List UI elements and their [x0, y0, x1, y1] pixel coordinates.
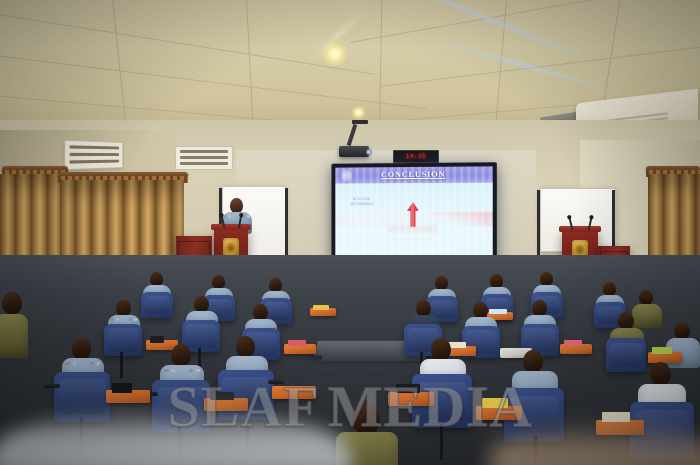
head [253, 304, 268, 320]
torso-khaki [0, 314, 28, 358]
notebook [489, 309, 507, 314]
presenter-epaulette-right [243, 215, 250, 218]
head [416, 300, 431, 316]
head [603, 282, 616, 296]
chair[interactable] [104, 324, 142, 356]
projection-banding [335, 166, 492, 264]
chair-leg [440, 424, 443, 460]
epaulette [129, 318, 137, 321]
torso-khaki [632, 304, 662, 328]
epaulette [111, 318, 119, 321]
head [352, 404, 380, 434]
head [674, 322, 690, 339]
chair[interactable] [606, 338, 646, 372]
notebook [652, 347, 672, 354]
notebook [482, 398, 508, 408]
ventilation-grille-left-2 [175, 146, 233, 170]
presenter-epaulette-left [224, 215, 231, 218]
led-clock-text: 14:35 [406, 153, 427, 160]
podium-left-top [211, 224, 251, 230]
podium-right-top [559, 226, 601, 232]
head [523, 350, 543, 372]
head [532, 300, 547, 316]
head [431, 338, 451, 360]
head [171, 344, 191, 366]
chair-writing-tablet [272, 386, 316, 399]
head [194, 296, 209, 312]
chair[interactable] [141, 292, 173, 318]
head [269, 278, 282, 292]
projector-lens-icon [366, 149, 372, 155]
epaulette [90, 362, 100, 365]
head [72, 338, 91, 359]
mobile-phone[interactable] [112, 383, 132, 393]
head [473, 302, 488, 318]
chair-leg [120, 352, 123, 378]
photograph-lecture-hall: 14:35 CONCLUSION ATTITUDE DETERMINES ATT… [0, 0, 700, 465]
epaulette [66, 362, 76, 365]
notebook [288, 340, 306, 346]
led-clock-display: 14:35 [393, 150, 439, 163]
head [212, 275, 225, 289]
mobile-phone[interactable] [396, 384, 420, 393]
head [490, 274, 503, 288]
downlight-3 [350, 106, 367, 119]
head [116, 300, 131, 316]
chair-writing-tablet [476, 406, 522, 420]
chair-armrest [268, 380, 284, 384]
presenter-head [230, 198, 243, 213]
downlight-1 [320, 42, 350, 66]
ventilation-grille-left [64, 140, 123, 170]
head [150, 272, 163, 286]
head [639, 290, 653, 305]
mobile-phone[interactable] [150, 336, 164, 343]
projection-screen: CONCLUSION ATTITUDE DETERMINES ATTITUDE … [331, 162, 496, 269]
head [2, 292, 22, 314]
head [540, 272, 553, 286]
epaulette [189, 369, 200, 372]
chair-armrest [44, 384, 60, 388]
notebook [313, 305, 329, 310]
head [650, 362, 671, 385]
head [618, 312, 634, 329]
head [236, 336, 255, 357]
projector [339, 146, 369, 157]
chair-writing-tablet [388, 392, 434, 406]
projected-slide: CONCLUSION ATTITUDE DETERMINES ATTITUDE … [335, 166, 492, 264]
notebook [564, 340, 582, 346]
mobile-phone[interactable] [210, 392, 234, 400]
epaulette [164, 369, 175, 372]
head [435, 276, 448, 290]
